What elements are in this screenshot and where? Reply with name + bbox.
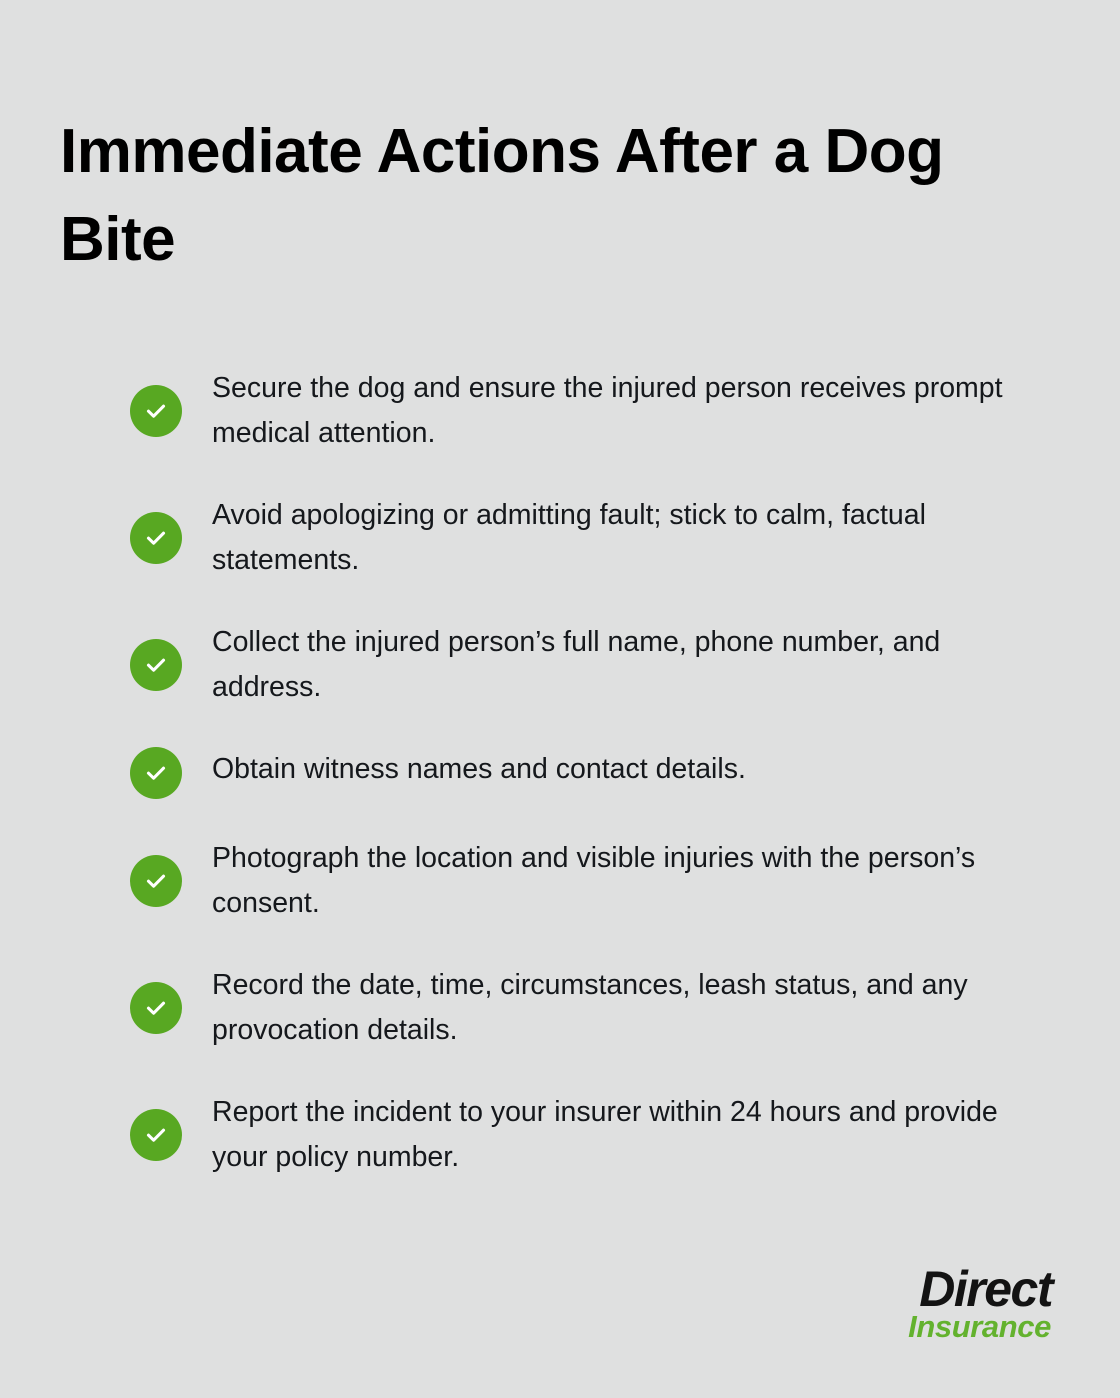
list-item-text: Avoid apologizing or admitting fault; st… <box>212 493 1042 583</box>
list-item: Obtain witness names and contact details… <box>130 747 1042 799</box>
list-item: Report the incident to your insurer with… <box>130 1090 1042 1180</box>
brand-logo: Direct Insurance <box>908 1265 1052 1343</box>
list-item-text: Photograph the location and visible inju… <box>212 836 1042 926</box>
list-item: Photograph the location and visible inju… <box>130 836 1042 926</box>
check-circle-icon <box>130 1109 182 1161</box>
list-item-text: Obtain witness names and contact details… <box>212 747 746 792</box>
check-circle-icon <box>130 855 182 907</box>
check-circle-icon <box>130 982 182 1034</box>
list-item-text: Secure the dog and ensure the injured pe… <box>212 366 1042 456</box>
check-circle-icon <box>130 385 182 437</box>
page-title: Immediate Actions After a Dog Bite <box>60 108 1060 284</box>
list-item: Collect the injured person’s full name, … <box>130 620 1042 710</box>
list-item-text: Record the date, time, circumstances, le… <box>212 963 1042 1053</box>
check-circle-icon <box>130 747 182 799</box>
check-circle-icon <box>130 639 182 691</box>
list-item: Avoid apologizing or admitting fault; st… <box>130 493 1042 583</box>
list-item-text: Collect the injured person’s full name, … <box>212 620 1042 710</box>
list-item: Secure the dog and ensure the injured pe… <box>130 366 1042 456</box>
brand-logo-primary: Direct <box>908 1265 1052 1313</box>
infographic-card: Immediate Actions After a Dog Bite Secur… <box>0 0 1120 1398</box>
list-item-text: Report the incident to your insurer with… <box>212 1090 1042 1180</box>
checklist: Secure the dog and ensure the injured pe… <box>130 366 1042 1180</box>
brand-logo-secondary: Insurance <box>908 1311 1051 1343</box>
check-circle-icon <box>130 512 182 564</box>
list-item: Record the date, time, circumstances, le… <box>130 963 1042 1053</box>
